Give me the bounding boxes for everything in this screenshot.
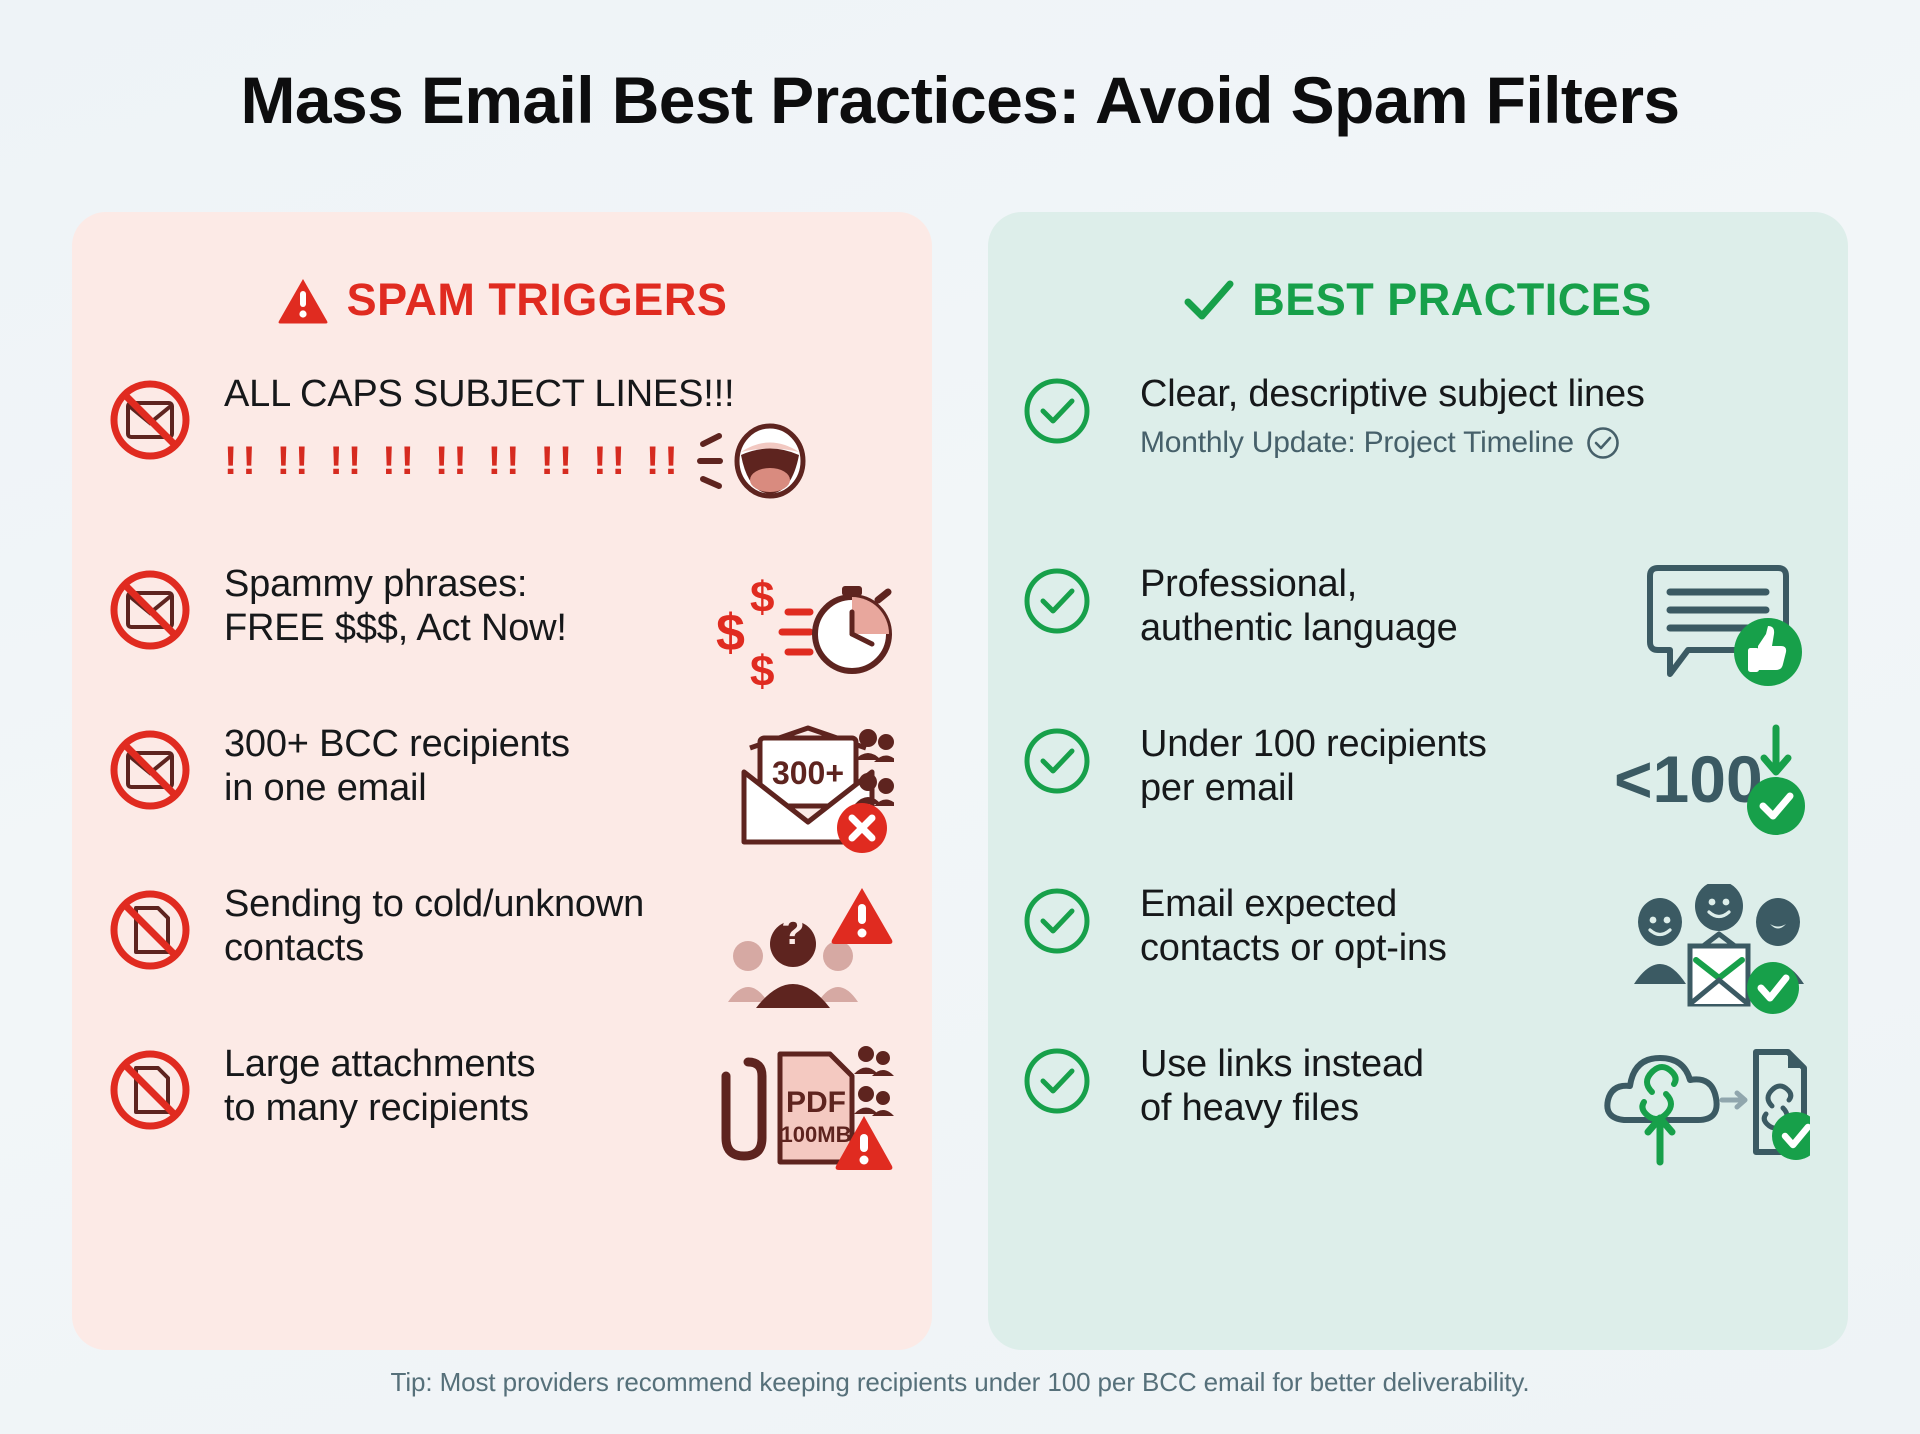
practice-row-body: Under 100 recipients per email <100 [1140, 720, 1810, 842]
check-circle-icon [1022, 370, 1140, 446]
spam-row-body: Large attachments to many recipients PDF… [224, 1040, 894, 1174]
svg-text:$: $ [750, 573, 774, 622]
practice-row-label: Email expected contacts or opt-ins [1140, 882, 1618, 970]
practice-row-text-col: Clear, descriptive subject lines Monthly… [1140, 372, 1810, 460]
practice-row-text-col: Use links instead of heavy files [1140, 1042, 1588, 1130]
svg-text:?: ? [781, 911, 804, 953]
people-envelope-check-icon [1630, 882, 1810, 1016]
practice-row-professional-language: Professional, authentic language [1022, 560, 1814, 720]
money-stopwatch-icon: $ $ $ [716, 562, 894, 694]
best-practices-panel: BEST PRACTICES Clear, descriptive subjec… [988, 212, 1848, 1350]
spam-row-body: ALL CAPS SUBJECT LINES!!! !! !! !! !! !!… [224, 370, 894, 500]
spam-row-body: Spammy phrases: FREE $$$, Act Now! $ $ $ [224, 560, 894, 694]
subject-line-example-label: Monthly Update: Project Timeline [1140, 426, 1574, 460]
svg-text:$: $ [716, 604, 745, 662]
spam-row-text-col: 300+ BCC recipients in one email [224, 722, 710, 810]
practice-row-label: Professional, authentic language [1140, 562, 1628, 650]
spam-row-large-attachments: Large attachments to many recipients PDF… [106, 1040, 898, 1200]
practice-row-use-links: Use links instead of heavy files [1022, 1040, 1814, 1200]
check-circle-outline-icon [1586, 426, 1620, 460]
infographic-page: Mass Email Best Practices: Avoid Spam Fi… [0, 0, 1920, 1434]
practice-row-text-col: Email expected contacts or opt-ins [1140, 882, 1618, 970]
spam-row-label: 300+ BCC recipients in one email [224, 722, 710, 810]
spam-row-bcc-recipients: 300+ BCC recipients in one email 300+ [106, 720, 898, 880]
practice-row-body: Use links instead of heavy files [1140, 1040, 1810, 1172]
no-email-icon [106, 560, 224, 654]
envelope-count-label: 300+ [772, 755, 844, 791]
practice-row-label: Under 100 recipients per email [1140, 722, 1598, 810]
check-circle-icon [1022, 1040, 1140, 1116]
spam-row-label: Sending to cold/unknown contacts [224, 882, 714, 970]
pdf-size-label: 100MB [781, 1122, 852, 1147]
spam-panel-header: SPAM TRIGGERS [106, 252, 898, 348]
no-document-icon [106, 880, 224, 974]
practices-panel-header: BEST PRACTICES [1022, 252, 1814, 348]
spam-triggers-panel: SPAM TRIGGERS ALL CA [72, 212, 932, 1350]
spam-row-all-caps: ALL CAPS SUBJECT LINES!!! !! !! !! !! !!… [106, 370, 898, 560]
practice-row-label: Use links instead of heavy files [1140, 1042, 1588, 1130]
under-100-check-icon: <100 [1610, 722, 1810, 842]
practices-panel-title: BEST PRACTICES [1252, 274, 1652, 326]
panels-container: SPAM TRIGGERS ALL CA [72, 212, 1848, 1350]
practices-rows: Clear, descriptive subject lines Monthly… [1022, 370, 1814, 1200]
spam-row-text-col: Sending to cold/unknown contacts [224, 882, 714, 970]
practice-row-expected-contacts: Email expected contacts or opt-ins [1022, 880, 1814, 1040]
spam-panel-title: SPAM TRIGGERS [347, 274, 728, 326]
spam-row-body: 300+ BCC recipients in one email 300+ [224, 720, 894, 856]
no-document-icon [106, 1040, 224, 1134]
pdf-label: PDF [786, 1086, 846, 1119]
no-email-icon [106, 370, 224, 464]
check-circle-icon [1022, 720, 1140, 796]
spam-row-text-col: Spammy phrases: FREE $$$, Act Now! [224, 562, 704, 650]
footer-tip: Tip: Most providers recommend keeping re… [0, 1367, 1920, 1398]
spam-row-body: Sending to cold/unknown contacts ? [224, 880, 894, 1012]
under-100-label: <100 [1614, 742, 1763, 816]
spam-rows: ALL CAPS SUBJECT LINES!!! !! !! !! !! !!… [106, 370, 898, 1200]
pdf-attachment-warning-icon: PDF 100MB [718, 1042, 894, 1174]
practice-row-body: Email expected contacts or opt-ins [1140, 880, 1810, 1016]
practice-row-label: Clear, descriptive subject lines [1140, 372, 1810, 416]
subject-line-example: Monthly Update: Project Timeline [1140, 426, 1810, 460]
practice-row-body: Professional, authentic language [1140, 560, 1810, 692]
svg-text:$: $ [750, 647, 774, 694]
envelope-crowd-error-icon: 300+ [722, 722, 894, 856]
spam-row-text-col: Large attachments to many recipients [224, 1042, 706, 1130]
practice-row-text-col: Professional, authentic language [1140, 562, 1628, 650]
spam-row-label: Spammy phrases: FREE $$$, Act Now! [224, 562, 704, 650]
spam-row-cold-contacts: Sending to cold/unknown contacts ? [106, 880, 898, 1040]
check-circle-icon [1022, 560, 1140, 636]
check-icon [1184, 278, 1234, 322]
spam-row-text-col: ALL CAPS SUBJECT LINES!!! !! !! !! !! !!… [224, 372, 894, 500]
no-email-icon [106, 720, 224, 814]
practice-row-text-col: Under 100 recipients per email [1140, 722, 1598, 810]
warning-triangle-icon [277, 276, 329, 324]
exclamation-marks-row: !! !! !! !! !! !! !! !! !! [224, 422, 894, 500]
practice-row-subject-lines: Clear, descriptive subject lines Monthly… [1022, 370, 1814, 560]
practice-row-under-100: Under 100 recipients per email <100 [1022, 720, 1814, 880]
exclamation-marks-label: !! !! !! !! !! !! !! !! !! [224, 439, 683, 484]
check-circle-icon [1022, 880, 1140, 956]
practice-row-body: Clear, descriptive subject lines Monthly… [1140, 370, 1810, 460]
spam-row-label: Large attachments to many recipients [224, 1042, 706, 1130]
unknown-contacts-warning-icon: ? [726, 882, 894, 1012]
spam-row-label: ALL CAPS SUBJECT LINES!!! [224, 372, 894, 416]
cloud-link-file-icon [1600, 1042, 1810, 1172]
speech-bubble-thumbs-up-icon [1640, 562, 1810, 692]
shouting-mouth-icon [697, 422, 813, 500]
page-title: Mass Email Best Practices: Avoid Spam Fi… [0, 0, 1920, 138]
spam-row-spammy-phrases: Spammy phrases: FREE $$$, Act Now! $ $ $ [106, 560, 898, 720]
